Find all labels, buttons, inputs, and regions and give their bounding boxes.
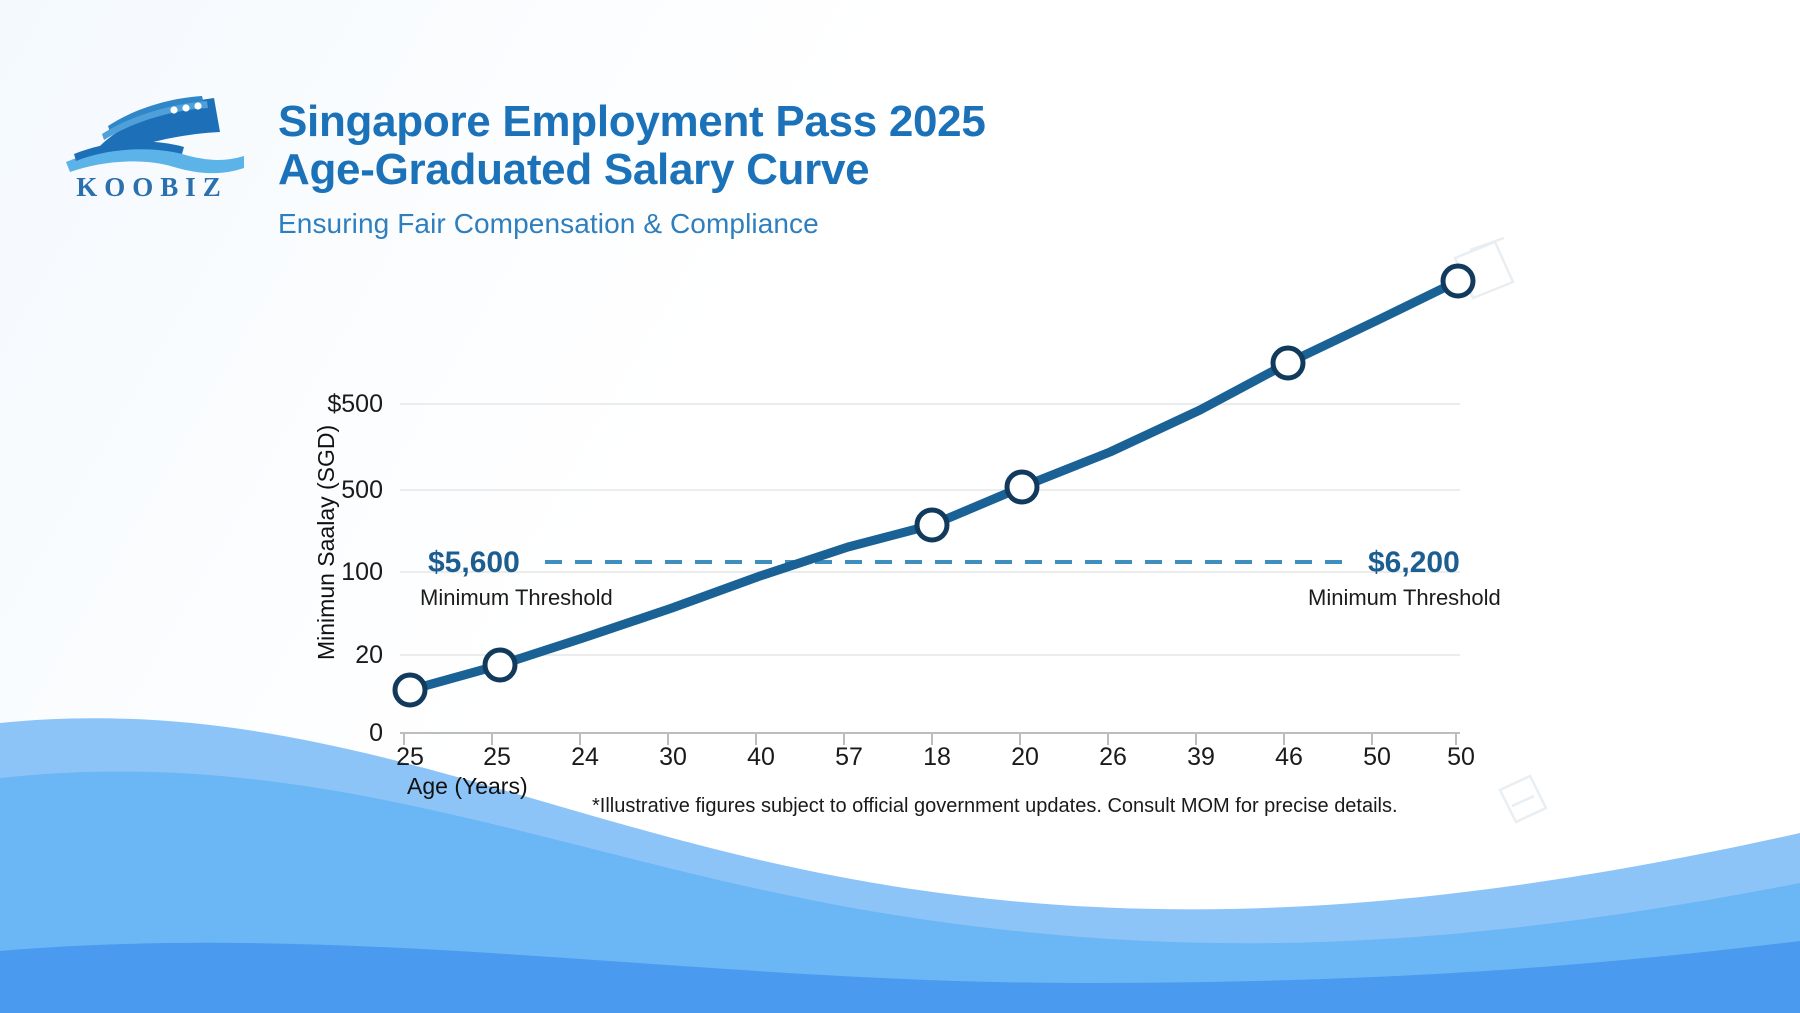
- ship-icon: [52, 88, 252, 180]
- data-point: [485, 650, 515, 680]
- x-tick-label-8: 26: [1099, 743, 1127, 771]
- brand-name: KOOBIZ: [52, 172, 252, 203]
- x-tick-label-4: 40: [747, 743, 775, 771]
- x-tick-label-6: 18: [923, 743, 951, 771]
- x-tick-label-2: 24: [571, 743, 599, 771]
- x-tick-label-9: 39: [1187, 743, 1215, 771]
- page-title-line-2: Age-Graduated Salary Curve: [278, 146, 986, 194]
- threshold-annotation-left: $5,600 Minimum Threshold: [420, 546, 613, 610]
- gridlines: [400, 404, 1460, 733]
- page-title-line-1: Singapore Employment Pass 2025: [278, 98, 986, 146]
- x-tick-label-10: 46: [1275, 743, 1303, 771]
- data-point-markers: [395, 266, 1473, 705]
- threshold-value-right: $6,200: [1368, 546, 1460, 579]
- x-tick-label-11: 50: [1363, 743, 1391, 771]
- chart-footnote: *Illustrative figures subject to officia…: [592, 795, 1398, 817]
- page-subtitle: Ensuring Fair Compensation & Compliance: [278, 208, 986, 240]
- data-point: [1007, 472, 1037, 502]
- y-tick-label-4: $500: [327, 390, 383, 418]
- brand-logo: KOOBIZ: [52, 88, 252, 213]
- x-tick-label-12: 50: [1447, 743, 1475, 771]
- x-tick-label-5: 57: [835, 743, 863, 771]
- x-axis-title: Age (Years): [407, 773, 528, 799]
- data-point: [1273, 348, 1303, 378]
- salary-line: [410, 281, 1458, 690]
- data-point: [1443, 266, 1473, 296]
- y-tick-label-0: 0: [369, 719, 383, 747]
- watermark-decoration: [1455, 238, 1546, 822]
- data-point: [395, 675, 425, 705]
- y-tick-label-3: 500: [341, 476, 383, 504]
- y-tick-label-1: 20: [355, 641, 383, 669]
- x-tick-label-7: 20: [1011, 743, 1039, 771]
- title-block: Singapore Employment Pass 2025 Age-Gradu…: [278, 98, 986, 240]
- x-tick-label-3: 30: [659, 743, 687, 771]
- threshold-caption-left: Minimum Threshold: [420, 585, 613, 610]
- threshold-value-left: $5,600: [428, 546, 520, 579]
- y-axis-title: Minimun Saalay (SGD): [313, 425, 339, 660]
- x-axis-ticks: 25 25 24 30 40 57 18 20 26 39 46 50 50: [396, 743, 1475, 771]
- x-tick-label-0: 25: [396, 743, 424, 771]
- header: KOOBIZ Singapore Employment Pass 2025 Ag…: [0, 0, 1800, 270]
- x-tick-label-1: 25: [483, 743, 511, 771]
- threshold-caption-right: Minimum Threshold: [1308, 585, 1501, 610]
- threshold-annotation-right: $6,200 Minimum Threshold: [1308, 546, 1501, 610]
- y-tick-label-2: 100: [341, 558, 383, 586]
- data-point: [917, 510, 947, 540]
